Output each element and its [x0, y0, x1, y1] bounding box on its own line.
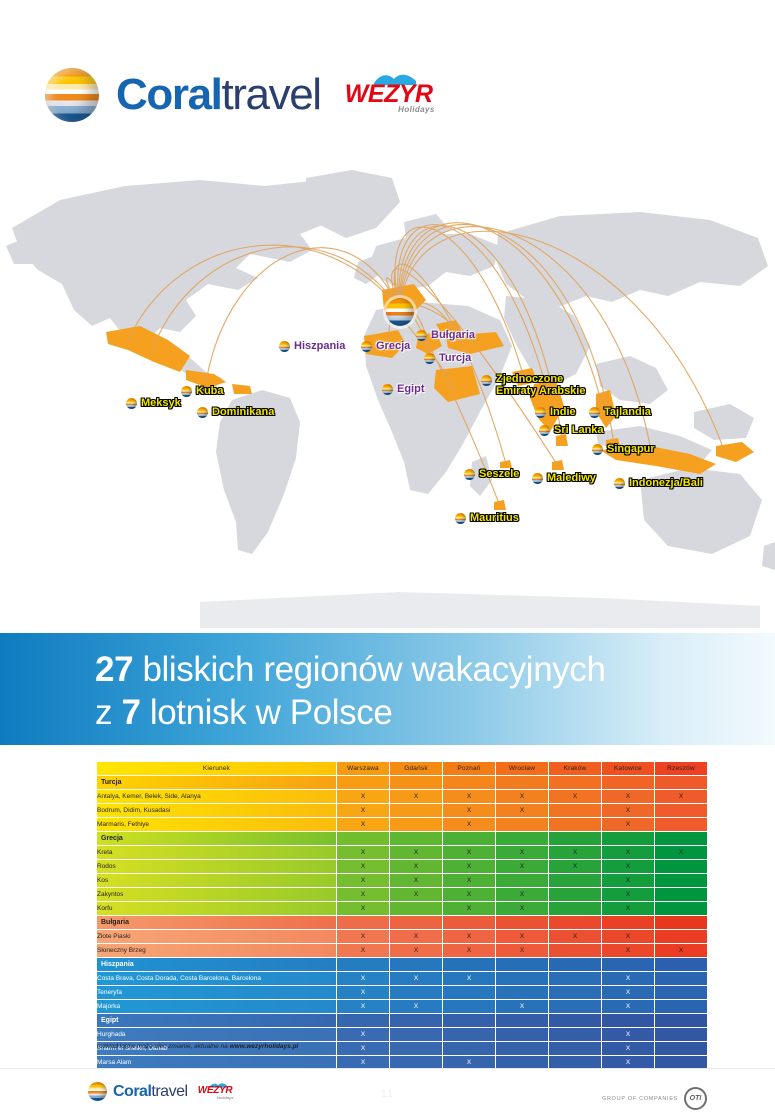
availability-cell-poznań: X	[443, 818, 495, 831]
map-label-sri-lanka: Sri Lanka	[539, 425, 604, 437]
map-pin-icon	[535, 407, 546, 418]
group-spacer-cell	[390, 958, 442, 971]
availability-cell-rzeszów	[655, 930, 707, 943]
map-label-malediwy: Malediwy	[532, 473, 596, 485]
destination-name: Bodrum, Didim, Kusadasi	[97, 804, 336, 817]
availability-cell-kraków	[549, 804, 601, 817]
availability-cell-rzeszów: X	[655, 790, 707, 803]
group-spacer-cell	[655, 1014, 707, 1027]
group-spacer-cell	[443, 832, 495, 845]
availability-cell-poznań	[443, 986, 495, 999]
group-spacer-cell	[655, 958, 707, 971]
availability-cell-gdańsk	[390, 1042, 442, 1055]
availability-cell-katowice: X	[602, 846, 654, 859]
availability-cell-wrocław: X	[496, 860, 548, 873]
availability-cell-kraków: X	[549, 860, 601, 873]
availability-cell-warszawa: X	[337, 986, 389, 999]
availability-cell-katowice: X	[602, 1028, 654, 1041]
availability-cell-katowice: X	[602, 1000, 654, 1013]
oti-logo-icon: OTI	[684, 1087, 707, 1110]
map-label-tajlandia: Tajlandia	[589, 407, 651, 419]
map-label-egipt: Egipt	[382, 384, 425, 396]
availability-cell-warszawa: X	[337, 790, 389, 803]
availability-cell-rzeszów	[655, 1042, 707, 1055]
headline-count-airports: 7	[121, 693, 140, 732]
map-pin-icon	[416, 330, 427, 341]
availability-cell-rzeszów	[655, 874, 707, 887]
column-header-gdansk: Gdańsk	[390, 762, 442, 775]
table-row: TeneryfaXX	[97, 986, 707, 999]
map-label-hiszpania: Hiszpania	[279, 341, 345, 353]
availability-cell-poznań: X	[443, 790, 495, 803]
world-route-map: Meksyk Kuba Dominikana Hiszpania Grecja …	[0, 150, 775, 630]
availability-cell-katowice: X	[602, 972, 654, 985]
table-row: HurghadaXX	[97, 1028, 707, 1041]
destination-name: Teneryfa	[97, 986, 336, 999]
map-label-indonezja-bali: Indonezja/Bali	[614, 478, 703, 490]
availability-cell-rzeszów	[655, 888, 707, 901]
map-pin-icon	[539, 425, 550, 436]
group-spacer-cell	[390, 776, 442, 789]
availability-cell-katowice: X	[602, 804, 654, 817]
group-spacer-cell	[337, 958, 389, 971]
group-label: Grecja	[97, 832, 336, 845]
availability-cell-gdańsk: X	[390, 888, 442, 901]
map-label-meksyk: Meksyk	[126, 398, 181, 410]
map-pin-icon	[589, 407, 600, 418]
column-header-poznan: Poznań	[443, 762, 495, 775]
group-label: Turcja	[97, 776, 336, 789]
coral-travel-wordmark: Coraltravel	[116, 73, 321, 117]
availability-cell-gdańsk: X	[390, 846, 442, 859]
availability-cell-warszawa: X	[337, 846, 389, 859]
availability-cell-katowice: X	[602, 986, 654, 999]
availability-cell-warszawa: X	[337, 944, 389, 957]
group-spacer-cell	[496, 1014, 548, 1027]
availability-cell-wrocław	[496, 972, 548, 985]
availability-cell-kraków	[549, 972, 601, 985]
destination-name: Zakyntos	[97, 888, 336, 901]
availability-cell-kraków: X	[549, 790, 601, 803]
group-spacer-cell	[655, 832, 707, 845]
map-label-dominikana: Dominikana	[197, 407, 274, 419]
group-spacer-cell	[655, 776, 707, 789]
availability-cell-poznań: X	[443, 930, 495, 943]
table-row: Słoneczny BrzegXXXXXX	[97, 944, 707, 957]
availability-cell-rzeszów	[655, 972, 707, 985]
headline-banner: 27 bliskich regionów wakacyjnych z 7 lot…	[0, 633, 775, 745]
availability-cell-gdańsk	[390, 804, 442, 817]
availability-cell-gdańsk	[390, 986, 442, 999]
coral-word-light: travel	[221, 70, 320, 119]
availability-cell-warszawa: X	[337, 1042, 389, 1055]
map-pin-icon	[481, 375, 492, 386]
map-pin-icon	[424, 353, 435, 364]
availability-cell-rzeszów	[655, 818, 707, 831]
availability-cell-gdańsk: X	[390, 1000, 442, 1013]
map-label-zjednoczone-emiraty-arabskie: ZjednoczoneEmiraty Arabskie	[481, 374, 585, 397]
table-row: KretaXXXXXXX	[97, 846, 707, 859]
table-group-row-hiszpania: Hiszpania	[97, 958, 707, 971]
group-spacer-cell	[443, 776, 495, 789]
availability-cell-poznań	[443, 1042, 495, 1055]
availability-cell-kraków	[549, 818, 601, 831]
availability-cell-katowice: X	[602, 790, 654, 803]
headline-text: 27 bliskich regionów wakacyjnych z 7 lot…	[95, 649, 606, 734]
destination-name: Majorka	[97, 1000, 336, 1013]
availability-cell-wrocław: X	[496, 944, 548, 957]
map-pin-icon	[592, 444, 603, 455]
column-header-wroclaw: Wrocław	[496, 762, 548, 775]
availability-cell-warszawa: X	[337, 888, 389, 901]
group-spacer-cell	[443, 916, 495, 929]
table-group-row-egipt: Egipt	[97, 1014, 707, 1027]
availability-cell-poznań: X	[443, 846, 495, 859]
poland-hub-sphere-icon	[386, 298, 414, 326]
group-spacer-cell	[496, 958, 548, 971]
map-pin-icon	[279, 341, 290, 352]
availability-cell-katowice: X	[602, 888, 654, 901]
availability-cell-warszawa: X	[337, 804, 389, 817]
wezyr-sub-text: Holidays	[343, 105, 435, 114]
map-pin-icon	[455, 513, 466, 524]
availability-cell-warszawa: X	[337, 1028, 389, 1041]
group-spacer-cell	[549, 776, 601, 789]
group-spacer-cell	[602, 832, 654, 845]
table-row: Antalya, Kemer, Belek, Side, AlanyaXXXXX…	[97, 790, 707, 803]
availability-cell-katowice: X	[602, 818, 654, 831]
destination-name: Słoneczny Brzeg	[97, 944, 336, 957]
table-header-row: Kierunek Warszawa Gdańsk Poznań Wrocław …	[97, 762, 707, 775]
map-pin-icon	[464, 469, 475, 480]
availability-cell-poznań: X	[443, 888, 495, 901]
availability-cell-rzeszów	[655, 1000, 707, 1013]
group-spacer-cell	[496, 916, 548, 929]
map-landmasses	[6, 170, 775, 628]
table-row: Marmaris, FethiyeXXX	[97, 818, 707, 831]
group-spacer-cell	[549, 958, 601, 971]
map-pin-icon	[614, 478, 625, 489]
availability-cell-katowice: X	[602, 930, 654, 943]
brand-logo-lockup: Coraltravel WEZYR Holidays	[45, 68, 435, 122]
map-label-turcja: Turcja	[424, 353, 471, 365]
group-spacer-cell	[443, 1014, 495, 1027]
group-spacer-cell	[549, 1014, 601, 1027]
availability-cell-kraków: X	[549, 930, 601, 943]
availability-cell-poznań: X	[443, 902, 495, 915]
group-spacer-cell	[337, 832, 389, 845]
map-pin-icon	[181, 386, 192, 397]
wezyr-logo: WEZYR Holidays	[343, 72, 435, 118]
table-group-row-bulgaria: Bułgaria	[97, 916, 707, 929]
headline-count-regions: 27	[95, 650, 133, 689]
availability-cell-wrocław	[496, 986, 548, 999]
availability-cell-gdańsk: X	[390, 860, 442, 873]
availability-cell-gdańsk	[390, 902, 442, 915]
availability-cell-gdańsk: X	[390, 790, 442, 803]
group-spacer-cell	[337, 1014, 389, 1027]
availability-cell-gdańsk: X	[390, 930, 442, 943]
availability-cell-rzeszów	[655, 804, 707, 817]
group-label: Hiszpania	[97, 958, 336, 971]
table-group-row-grecja: Grecja	[97, 832, 707, 845]
availability-cell-wrocław: X	[496, 1000, 548, 1013]
map-label-indie: Indie	[535, 407, 576, 419]
destination-name: Marmaris, Fethiye	[97, 818, 336, 831]
headline-regions-text: bliskich regionów wakacyjnych	[133, 650, 605, 689]
table-row: Costa Brava, Costa Dorada, Costa Barcelo…	[97, 972, 707, 985]
group-spacer-cell	[549, 832, 601, 845]
table-row: KorfuXXXX	[97, 902, 707, 915]
availability-cell-poznań: X	[443, 860, 495, 873]
map-label-kuba: Kuba	[181, 386, 224, 398]
headline-airports-text: lotnisk w Polsce	[141, 693, 393, 732]
page-header: Coraltravel WEZYR Holidays	[0, 0, 775, 150]
availability-cell-warszawa: X	[337, 874, 389, 887]
availability-cell-warszawa: X	[337, 818, 389, 831]
group-spacer-cell	[549, 916, 601, 929]
availability-cell-poznań	[443, 1028, 495, 1041]
availability-cell-wrocław: X	[496, 804, 548, 817]
availability-cell-warszawa: X	[337, 1000, 389, 1013]
map-label-seszele: Seszele	[464, 469, 519, 481]
table-header: Kierunek Warszawa Gdańsk Poznań Wrocław …	[97, 762, 707, 775]
group-of-companies-label: GROUP OF COMPANIES	[602, 1096, 678, 1102]
disclaimer-text: rozkład lotów może ulec zmianie, aktualn…	[97, 1043, 230, 1050]
availability-cell-rzeszów	[655, 1028, 707, 1041]
group-spacer-cell	[496, 832, 548, 845]
destination-name: Hurghada	[97, 1028, 336, 1041]
map-label-singapur: Singapur	[592, 444, 655, 456]
map-label-grecja: Grecja	[361, 341, 410, 353]
group-spacer-cell	[337, 916, 389, 929]
availability-cell-kraków	[549, 1000, 601, 1013]
column-header-krakow: Kraków	[549, 762, 601, 775]
availability-cell-warszawa: X	[337, 930, 389, 943]
availability-cell-warszawa: X	[337, 860, 389, 873]
group-label: Egipt	[97, 1014, 336, 1027]
group-spacer-cell	[443, 958, 495, 971]
availability-cell-kraków	[549, 902, 601, 915]
table-row: MajorkaXXXX	[97, 1000, 707, 1013]
map-label-bulgaria: Bułgaria	[416, 330, 475, 342]
availability-cell-rzeszów: X	[655, 846, 707, 859]
availability-cell-poznań	[443, 1000, 495, 1013]
availability-cell-rzeszów	[655, 986, 707, 999]
availability-cell-rzeszów	[655, 902, 707, 915]
schedule-disclaimer: rozkład lotów może ulec zmianie, aktualn…	[97, 1043, 298, 1050]
availability-cell-poznań: X	[443, 804, 495, 817]
availability-cell-wrocław: X	[496, 902, 548, 915]
table-row: Bodrum, Didim, KusadasiXXXX	[97, 804, 707, 817]
table-group-row-turcja: Turcja	[97, 776, 707, 789]
destination-name: Rodos	[97, 860, 336, 873]
destination-name: Kreta	[97, 846, 336, 859]
availability-cell-kraków	[549, 1042, 601, 1055]
flight-schedule-table-wrapper: Kierunek Warszawa Gdańsk Poznań Wrocław …	[96, 761, 704, 1084]
availability-cell-rzeszów: X	[655, 944, 707, 957]
group-spacer-cell	[390, 832, 442, 845]
group-spacer-cell	[602, 776, 654, 789]
headline-line-1: 27 bliskich regionów wakacyjnych	[95, 649, 606, 692]
availability-cell-wrocław: X	[496, 790, 548, 803]
map-pin-icon	[361, 341, 372, 352]
group-spacer-cell	[496, 776, 548, 789]
destination-name: Złote Piaski	[97, 930, 336, 943]
column-header-kierunek: Kierunek	[97, 762, 336, 775]
availability-cell-kraków	[549, 1028, 601, 1041]
availability-cell-katowice: X	[602, 860, 654, 873]
availability-cell-gdańsk	[390, 818, 442, 831]
destination-name: Korfu	[97, 902, 336, 915]
availability-cell-kraków: X	[549, 846, 601, 859]
availability-cell-poznań: X	[443, 944, 495, 957]
availability-cell-wrocław	[496, 874, 548, 887]
availability-cell-kraków	[549, 986, 601, 999]
group-spacer-cell	[390, 1014, 442, 1027]
availability-cell-warszawa: X	[337, 902, 389, 915]
group-spacer-cell	[602, 958, 654, 971]
availability-cell-wrocław: X	[496, 888, 548, 901]
availability-cell-wrocław	[496, 1028, 548, 1041]
headline-prefix: z	[95, 693, 121, 732]
map-pin-icon	[532, 473, 543, 484]
group-label: Bułgaria	[97, 916, 336, 929]
availability-cell-wrocław	[496, 818, 548, 831]
table-row: Złote PiaskiXXXXXX	[97, 930, 707, 943]
availability-cell-katowice: X	[602, 902, 654, 915]
table-body: TurcjaAntalya, Kemer, Belek, Side, Alany…	[97, 776, 707, 1083]
group-spacer-cell	[390, 916, 442, 929]
group-spacer-cell	[655, 916, 707, 929]
availability-cell-rzeszów	[655, 860, 707, 873]
headline-line-2: z 7 lotnisk w Polsce	[95, 692, 606, 735]
destination-name: Kos	[97, 874, 336, 887]
availability-cell-gdańsk: X	[390, 972, 442, 985]
flight-schedule-table: Kierunek Warszawa Gdańsk Poznań Wrocław …	[96, 761, 708, 1084]
map-pin-icon	[382, 384, 393, 395]
coral-sphere-icon	[45, 68, 99, 122]
map-pin-icon	[126, 398, 137, 409]
column-header-warszawa: Warszawa	[337, 762, 389, 775]
disclaimer-url[interactable]: www.wezyrholidays.pl	[230, 1043, 299, 1050]
availability-cell-poznań: X	[443, 874, 495, 887]
availability-cell-wrocław: X	[496, 930, 548, 943]
map-label-mauritius: Mauritius	[455, 513, 519, 525]
column-header-katowice: Katowice	[602, 762, 654, 775]
destination-name: Costa Brava, Costa Dorada, Costa Barcelo…	[97, 972, 336, 985]
availability-cell-katowice: X	[602, 874, 654, 887]
availability-cell-gdańsk: X	[390, 874, 442, 887]
availability-cell-gdańsk: X	[390, 944, 442, 957]
availability-cell-kraków	[549, 888, 601, 901]
table-row: ZakyntosXXXXX	[97, 888, 707, 901]
availability-cell-kraków	[549, 944, 601, 957]
table-row: RodosXXXXXX	[97, 860, 707, 873]
group-spacer-cell	[337, 776, 389, 789]
column-header-rzeszow: Rzeszów	[655, 762, 707, 775]
group-of-companies: GROUP OF COMPANIES OTI	[602, 1087, 707, 1110]
availability-cell-gdańsk	[390, 1028, 442, 1041]
availability-cell-kraków	[549, 874, 601, 887]
map-pin-icon	[197, 407, 208, 418]
coral-word-bold: Coral	[116, 70, 221, 119]
availability-cell-katowice: X	[602, 944, 654, 957]
availability-cell-katowice: X	[602, 1042, 654, 1055]
availability-cell-warszawa: X	[337, 972, 389, 985]
destination-name: Antalya, Kemer, Belek, Side, Alanya	[97, 790, 336, 803]
table-row: KosXXXX	[97, 874, 707, 887]
group-spacer-cell	[602, 916, 654, 929]
availability-cell-wrocław	[496, 1042, 548, 1055]
group-spacer-cell	[602, 1014, 654, 1027]
availability-cell-wrocław: X	[496, 846, 548, 859]
page-footer: Coraltravel WEZYR Holidays 11 GROUP OF C…	[0, 1068, 775, 1116]
availability-cell-poznań: X	[443, 972, 495, 985]
